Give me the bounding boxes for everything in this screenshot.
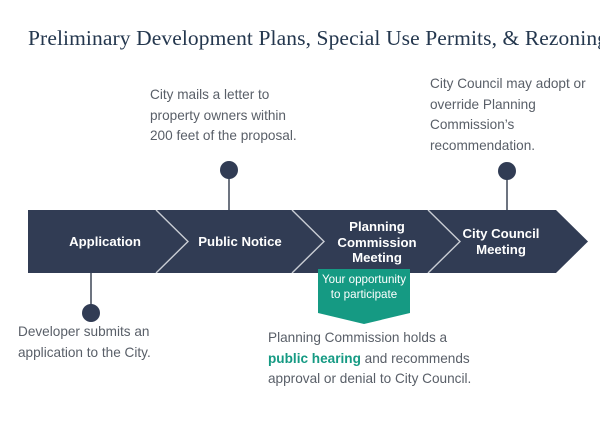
callout-shape bbox=[318, 269, 410, 324]
process-bar-shape bbox=[28, 210, 588, 273]
connector-stem-application bbox=[90, 273, 92, 306]
note-planning-commission: Planning Commission holds a public heari… bbox=[268, 328, 478, 390]
participation-callout[interactable]: Your opportunity to participate bbox=[318, 269, 410, 324]
note-planning-commission-pre: Planning Commission holds a bbox=[268, 330, 447, 345]
note-application: Developer submits an application to the … bbox=[18, 322, 168, 363]
note-city-council: City Council may adopt or override Plann… bbox=[430, 74, 595, 156]
connector-dot-public-notice bbox=[220, 161, 238, 179]
note-public-notice: City mails a letter to property owners w… bbox=[150, 85, 310, 147]
connector-stem-public-notice bbox=[228, 177, 230, 211]
page-title: Preliminary Development Plans, Special U… bbox=[28, 26, 600, 51]
note-public-hearing-highlight: public hearing bbox=[268, 351, 361, 366]
connector-dot-application bbox=[82, 304, 100, 322]
process-flow-bar: Application Public Notice Planning Commi… bbox=[28, 210, 588, 273]
connector-dot-city-council bbox=[498, 162, 516, 180]
connector-stem-city-council bbox=[506, 178, 508, 211]
infographic-canvas: Preliminary Development Plans, Special U… bbox=[0, 0, 600, 428]
